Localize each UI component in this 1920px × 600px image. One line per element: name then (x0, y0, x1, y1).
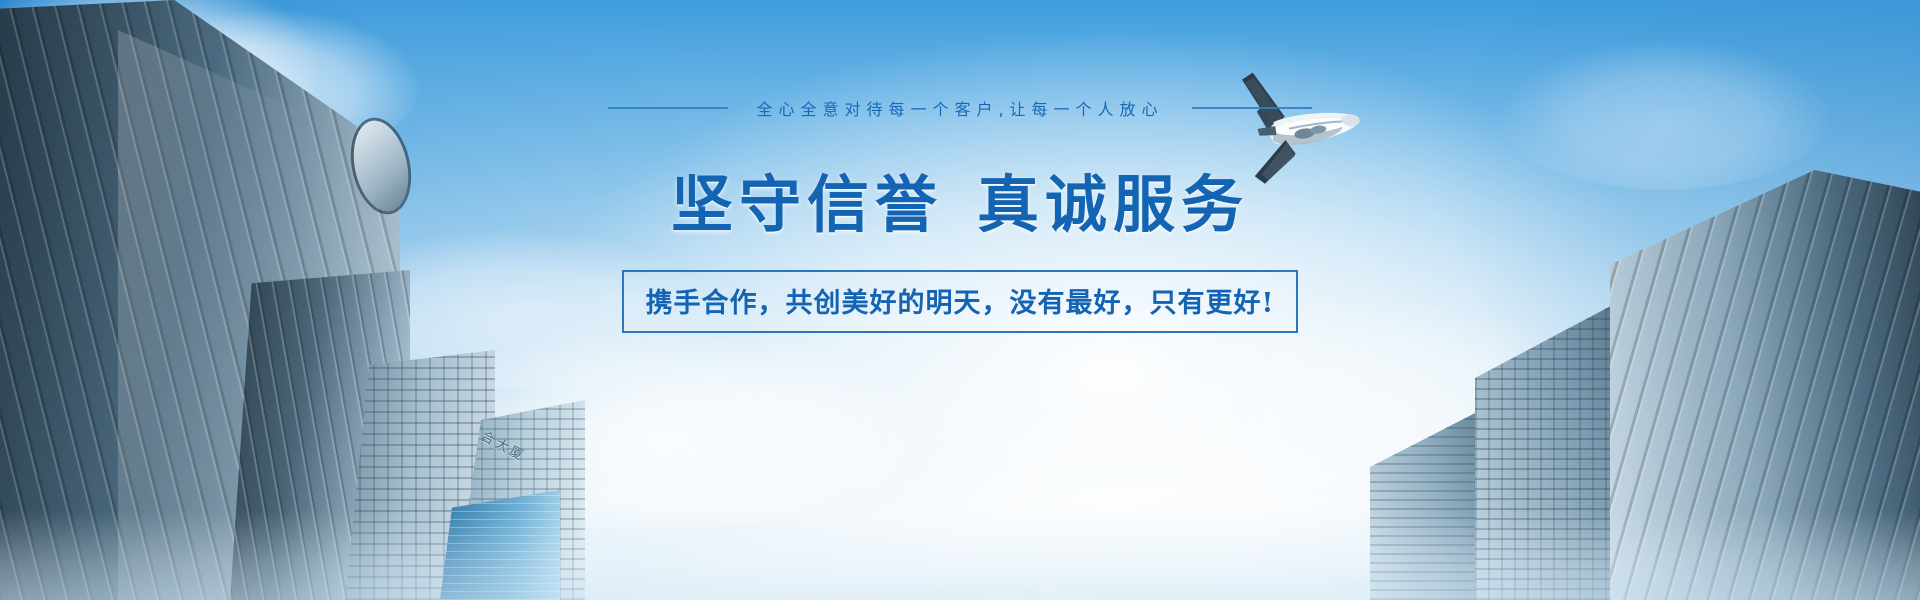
subtitle-text: 携手合作，共创美好的明天，没有最好，只有更好! (622, 270, 1299, 333)
divider-line-right-icon (1192, 107, 1312, 109)
subtitle-row: 携手合作，共创美好的明天，没有最好，只有更好! (0, 270, 1920, 333)
bottom-haze (0, 510, 1920, 600)
page-title: 坚守信誉真诚服务 (0, 154, 1920, 244)
tagline-row: 全心全意对待每一个客户,让每一个人放心 (0, 96, 1920, 120)
hero-banner: 联合大厦 (0, 0, 1920, 600)
divider-line-left-icon (608, 107, 728, 109)
headline-part-left: 坚守信誉 (671, 168, 943, 241)
hero-content: 全心全意对待每一个客户,让每一个人放心 坚守信誉真诚服务 携手合作，共创美好的明… (0, 96, 1920, 333)
tagline-text: 全心全意对待每一个客户,让每一个人放心 (756, 96, 1163, 120)
headline-part-right: 真诚服务 (977, 168, 1249, 241)
